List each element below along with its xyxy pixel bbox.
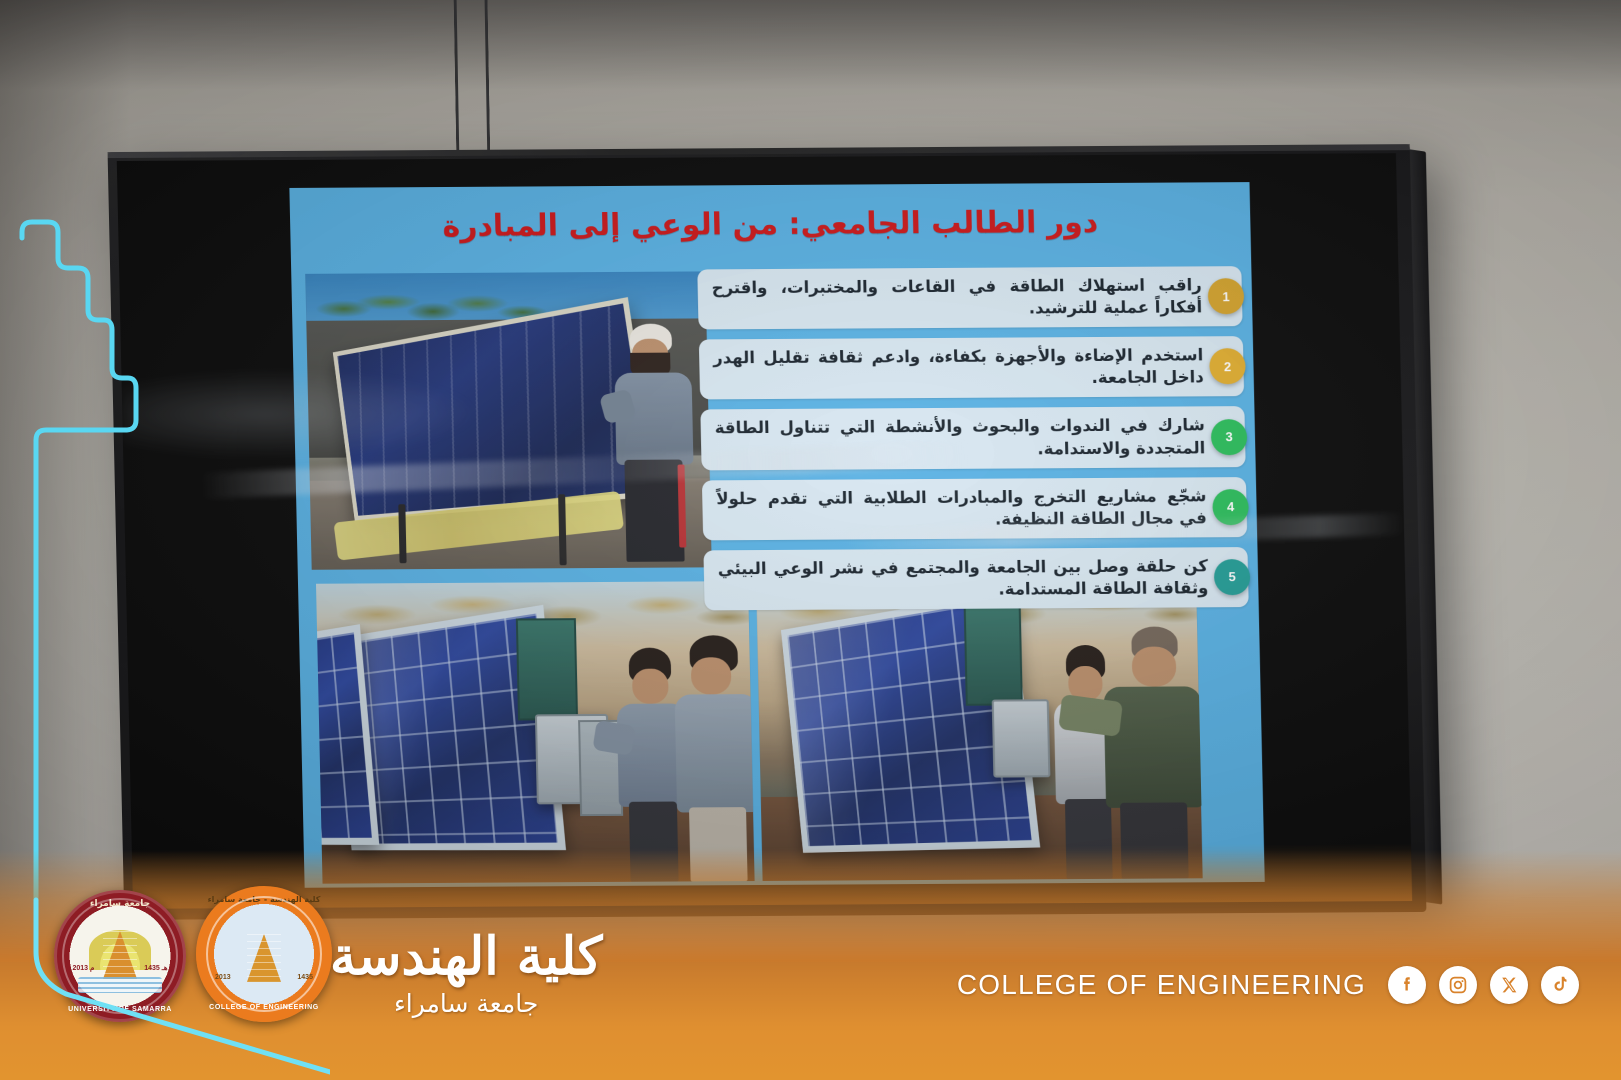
seal-water-motif (78, 977, 163, 993)
seal-english-ring-text: UNIVERSITY OF SAMARRA (54, 1006, 186, 1013)
x-twitter-icon[interactable] (1490, 966, 1528, 1004)
arabic-university-name: جامعة سامراء (330, 989, 602, 1018)
footer-logos: جامعة سامراء 2013 م 1435 هـ UNIVERSITY O… (54, 886, 332, 1022)
minaret-spiral-rings (103, 931, 137, 979)
seal-year-hijri: 1435 هـ (144, 964, 167, 972)
facebook-icon[interactable] (1388, 966, 1426, 1004)
tiktok-icon[interactable] (1541, 966, 1579, 1004)
seal-year-gregorian: 2013 (215, 974, 231, 981)
footer-right-block: COLLEGE OF ENGINEERING (957, 966, 1579, 1004)
seal-year-gregorian: 2013 م (72, 964, 94, 972)
college-of-engineering-seal: كلية الهندسة - جامعة سامراء 2013 1435 CO… (196, 886, 332, 1022)
english-college-label: COLLEGE OF ENGINEERING (957, 969, 1366, 1001)
seal-english-ring-text: COLLEGE OF ENGINEERING (196, 1004, 332, 1011)
minaret-spiral-rings (247, 934, 281, 982)
arabic-college-name: كلية الهندسة (330, 926, 602, 987)
seal-year-hijri: 1435 (297, 974, 313, 981)
malwiya-minaret-icon (247, 934, 281, 982)
social-links (1388, 966, 1579, 1004)
university-of-samarra-seal: جامعة سامراء 2013 م 1435 هـ UNIVERSITY O… (54, 890, 186, 1022)
instagram-icon[interactable] (1439, 966, 1477, 1004)
arabic-brand-block: كلية الهندسة جامعة سامراء (330, 926, 602, 1018)
seal-dome-motif (89, 930, 151, 970)
seal-arabic-ring-text: جامعة سامراء (54, 899, 186, 909)
malwiya-minaret-icon (103, 931, 137, 979)
room-scene: دور الطالب الجامعي: من الوعي إلى المبادر… (0, 0, 1621, 1080)
seal-arabic-ring-text: كلية الهندسة - جامعة سامراء (196, 895, 332, 904)
